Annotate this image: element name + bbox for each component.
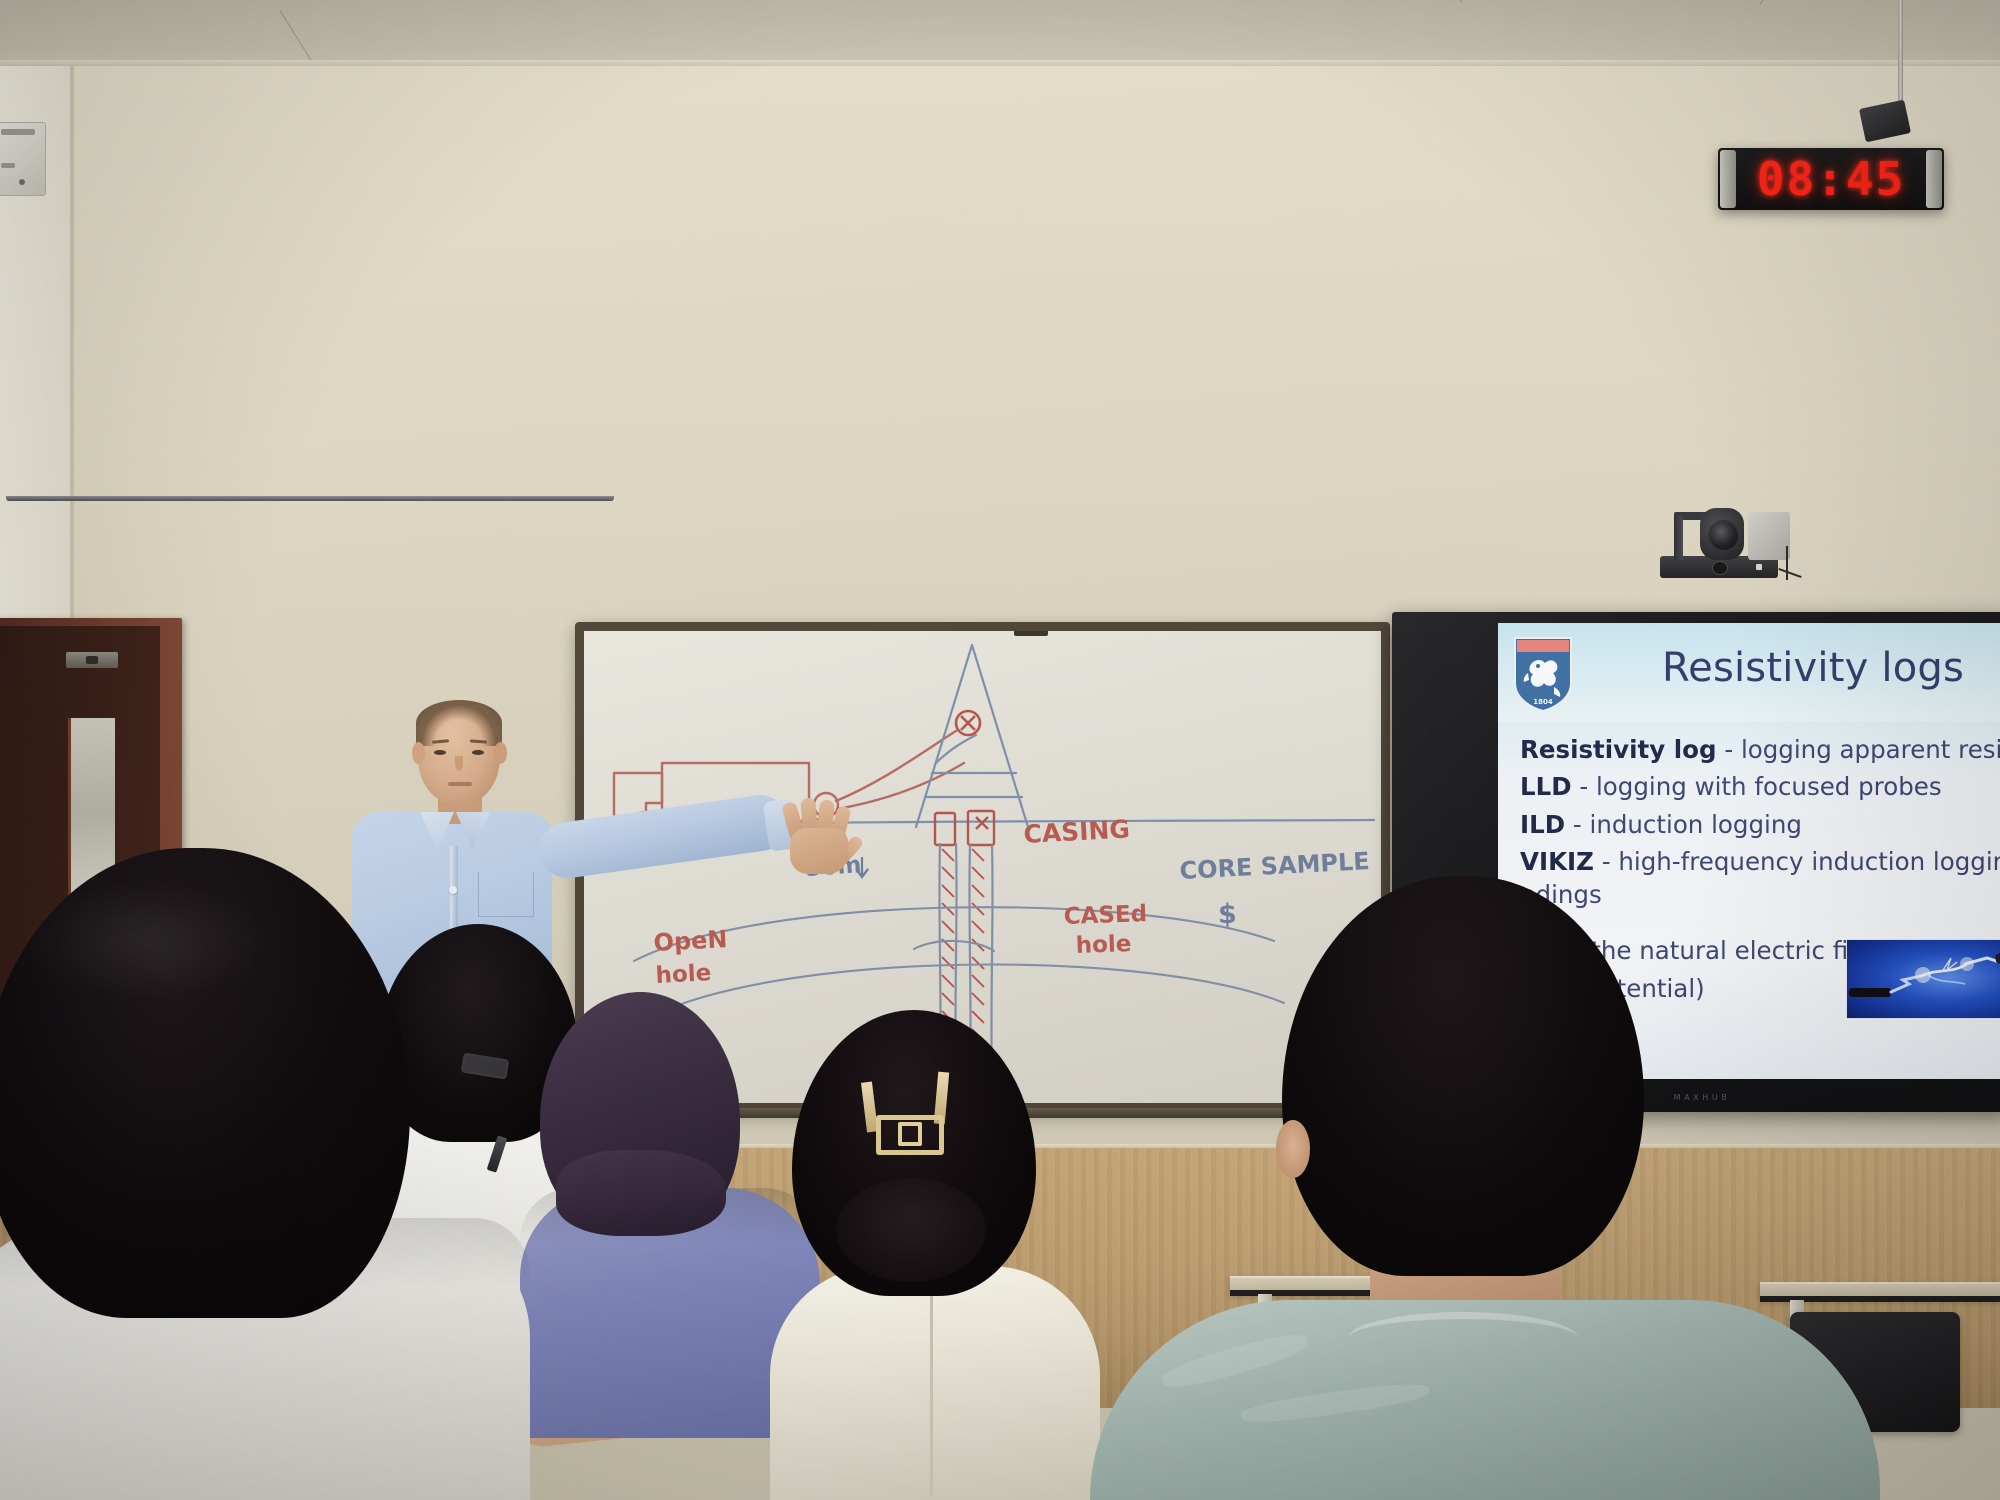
shirt-button [449, 886, 457, 894]
lecturer-eye [472, 750, 484, 755]
vent-slot [1, 129, 35, 135]
student-torso [770, 1266, 1100, 1500]
lecturer-shirt-pocket [478, 872, 534, 917]
slide-text: logging apparent resistan [1741, 735, 2000, 764]
slide-line: LLD - logging with focused probes [1520, 770, 2000, 804]
svg-text:CASEd: CASEd [1063, 901, 1147, 930]
camera-side-module [1748, 512, 1790, 560]
tshirt-collar [1348, 1312, 1578, 1365]
camera-cable [1786, 546, 1788, 580]
electric-arc-image [1846, 939, 2000, 1019]
blouse-seam [930, 1276, 933, 1496]
svg-text:hole: hole [655, 960, 712, 989]
clock-endcap [1926, 150, 1942, 208]
clock-time-display: 08:45 [1740, 154, 1922, 204]
hair-bun [836, 1178, 986, 1282]
slide-line: ILD - induction logging [1520, 808, 2000, 842]
status-led [1756, 564, 1762, 570]
lecturer-ear [494, 742, 507, 764]
slide-text: logging with focused probes [1596, 772, 1942, 801]
student-ear [1276, 1120, 1310, 1178]
vent-slot [1, 163, 15, 168]
secondary-lens-icon [1712, 561, 1728, 575]
slide-term: LLD [1520, 772, 1572, 801]
hair-clip-tongue [898, 1122, 922, 1146]
classroom-photo: 08:45 [0, 0, 2000, 1500]
lecturer-eye [434, 750, 446, 755]
slide-text: high-frequency induction logging [1618, 847, 2000, 876]
display-base-rail [6, 496, 614, 501]
door-lock-plate[interactable] [66, 652, 118, 668]
crest-year: 1804 [1533, 698, 1553, 706]
lecturer-palm [790, 828, 848, 874]
slide-term: Resistivity log [1520, 735, 1717, 764]
clock-endcap [1720, 150, 1736, 208]
arc-graphic [1847, 940, 2000, 1018]
slide-sep: - [1724, 735, 1733, 764]
wall-digital-clock: 08:45 [1718, 148, 1944, 210]
hair-highlight [20, 880, 270, 1000]
headscarf-fold [556, 1150, 726, 1236]
camera-arm [1674, 516, 1683, 560]
camera-lens-icon [1708, 520, 1740, 552]
ceiling-tile-seam [1760, 0, 1824, 5]
slide-sep: - [1573, 810, 1582, 839]
slide-term: VIKIZ [1520, 847, 1594, 876]
slide-sep: - [1579, 772, 1588, 801]
slide-sep: - [1602, 847, 1611, 876]
svg-text:CASING: CASING [1023, 814, 1131, 849]
slide-title: Resistivity logs [1618, 645, 2000, 691]
wall-corner [70, 66, 74, 626]
clock-suspension-rod [1898, 0, 1903, 112]
svg-text:hole: hole [1075, 931, 1132, 959]
sensor-dot [19, 179, 25, 185]
svg-text:CORE SAMPLE: CORE SAMPLE [1179, 847, 1370, 885]
svg-text:OpeN: OpeN [653, 925, 728, 957]
keyhole-icon [86, 656, 98, 664]
slide-line: Resistivity log - logging apparent resis… [1520, 733, 2000, 767]
university-crest-icon: 1804 [1512, 635, 1574, 713]
ceiling-tile-seam [1460, 0, 1503, 3]
lecturer-nose [455, 756, 463, 771]
lecturer-ear [412, 742, 425, 764]
lecturer-hair [416, 700, 502, 746]
slide-term: ILD [1520, 810, 1565, 839]
slide-line-continuation: ndings [1520, 878, 2000, 912]
svg-text:$: $ [1218, 899, 1237, 930]
lecturer-mouth [448, 782, 472, 786]
wall-sensor-device [0, 122, 46, 196]
slide-line: VIKIZ - high-frequency induction logging [1520, 845, 2000, 879]
slide-text: induction logging [1590, 810, 1802, 839]
